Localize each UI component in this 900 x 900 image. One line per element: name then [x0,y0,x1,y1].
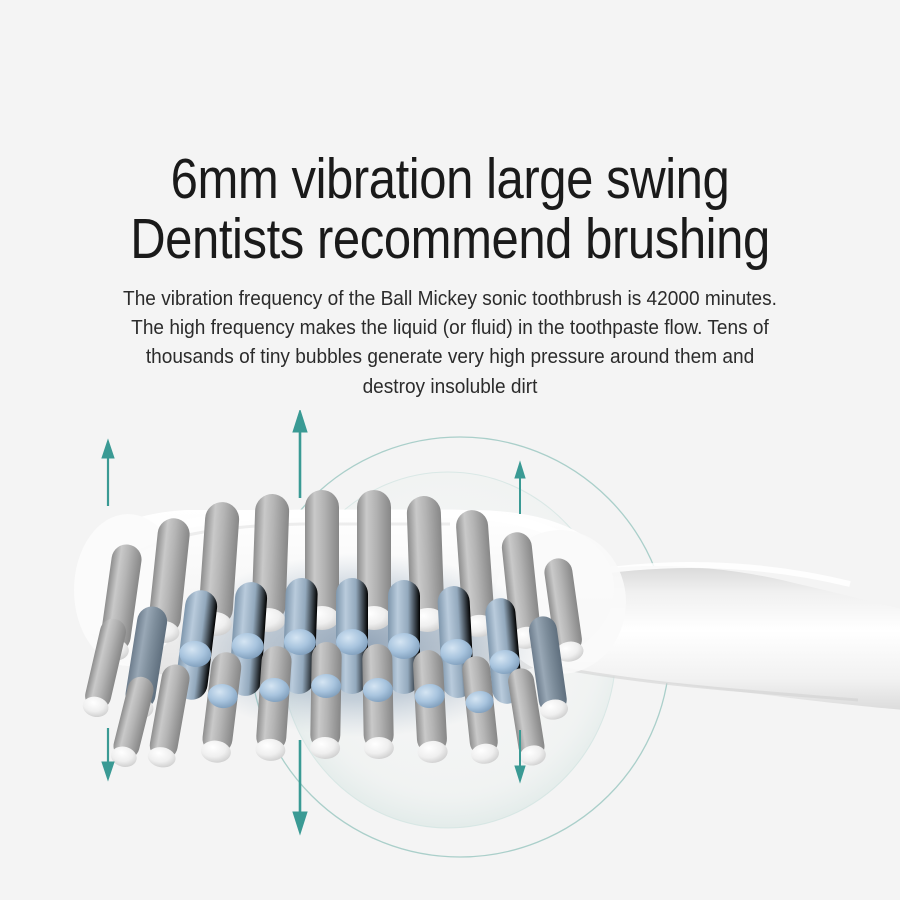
body-line-4: destroy insoluble dirt [32,372,869,401]
arrow-down-center [293,740,307,834]
arrow-up-center [293,410,307,498]
toothbrush-illustration [0,410,900,900]
arrow-up-left [102,440,114,506]
product-feature-page: 6mm vibration large swing Dentists recom… [0,0,900,900]
headline-line-2: Dentists recommend brushing [63,210,837,268]
body-line-3: thousands of tiny bubbles generate very … [32,342,869,371]
body-copy: The vibration frequency of the Ball Mick… [32,284,869,400]
headline-line-1: 6mm vibration large swing [63,150,837,208]
body-line-1: The vibration frequency of the Ball Mick… [32,284,869,313]
text-block: 6mm vibration large swing Dentists recom… [0,150,900,401]
body-line-2: The high frequency makes the liquid (or … [32,313,869,342]
